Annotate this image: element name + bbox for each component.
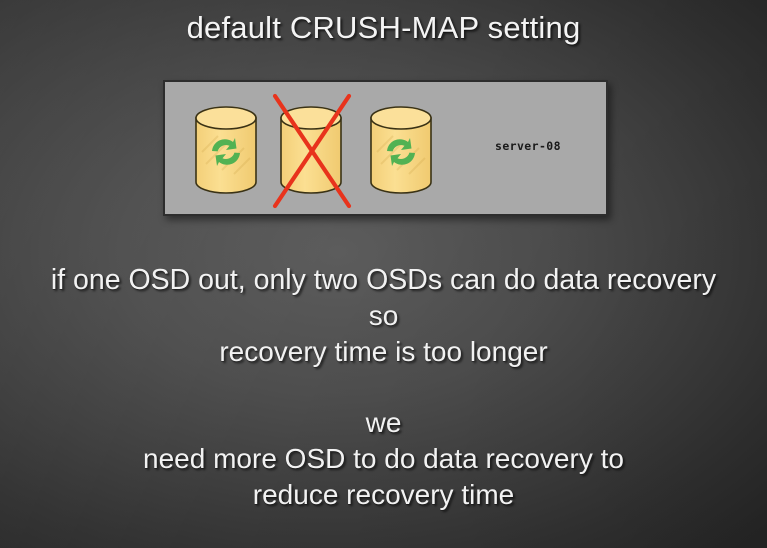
body-line: reduce recovery time	[0, 477, 767, 513]
osd-disk-2	[279, 106, 343, 194]
body-line: recovery time is too longer	[0, 334, 767, 370]
body-line: need more OSD to do data recovery to	[0, 441, 767, 477]
server-name-label: server-08	[495, 139, 561, 153]
osd-disk-3	[369, 106, 433, 194]
presentation-slide: default CRUSH-MAP setting	[0, 0, 767, 548]
body-line: so	[0, 298, 767, 334]
body-text-block-1: if one OSD out, only two OSDs can do dat…	[0, 262, 767, 370]
body-line: we	[0, 405, 767, 441]
body-text-block-2: we need more OSD to do data recovery to …	[0, 405, 767, 513]
database-cylinder-icon	[194, 106, 258, 194]
server-panel: server-08	[163, 80, 608, 216]
page-title: default CRUSH-MAP setting	[0, 8, 767, 48]
body-line: if one OSD out, only two OSDs can do dat…	[0, 262, 767, 298]
osd-disk-1	[194, 106, 258, 194]
database-cylinder-icon	[279, 106, 343, 194]
database-cylinder-icon	[369, 106, 433, 194]
